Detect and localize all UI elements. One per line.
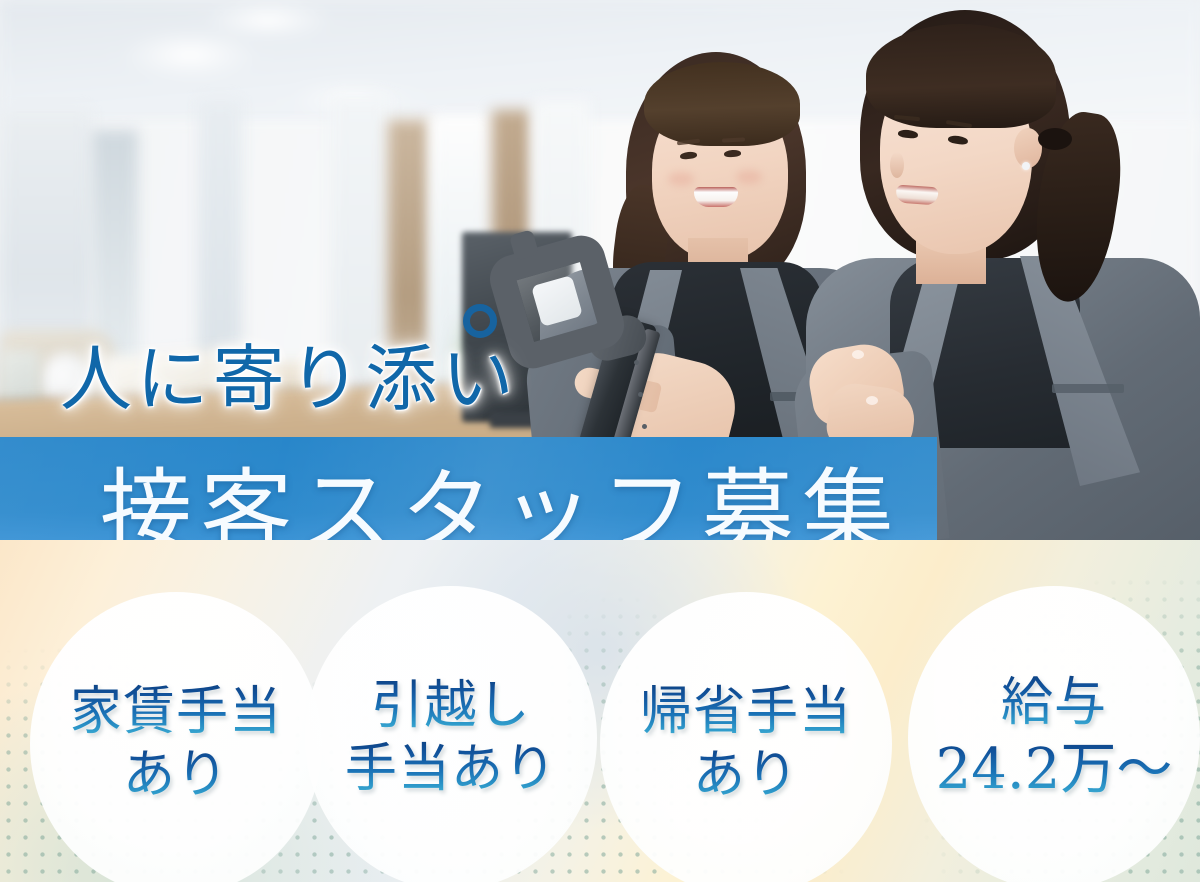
fingernail bbox=[852, 350, 864, 359]
jacket-pocket bbox=[1052, 384, 1124, 393]
benefit-badge-moving-allowance: 引越し 手当あり bbox=[305, 586, 597, 882]
headline-line-1: 人に寄り添い bbox=[60, 332, 580, 428]
benefit-label-line-2: あり bbox=[123, 744, 229, 807]
hair-tie bbox=[1038, 128, 1072, 150]
benefit-label-line-1: 家賃手当 bbox=[70, 681, 282, 744]
earring bbox=[1022, 162, 1030, 170]
benefit-label-line-1: 給与 bbox=[1001, 672, 1107, 735]
fingernail bbox=[866, 396, 878, 405]
tablet-button bbox=[634, 360, 639, 365]
bangs bbox=[644, 62, 800, 146]
benefit-label-line-1: 帰省手当 bbox=[640, 681, 852, 744]
benefit-label-line-1: 引越し bbox=[371, 675, 530, 738]
cheek bbox=[736, 170, 762, 184]
benefit-label-line-2: あり bbox=[693, 744, 799, 807]
benefits-list: 家賃手当 あり 引越し 手当あり 帰省手当 あり 給与 24.2万〜 bbox=[0, 540, 1200, 882]
cheek bbox=[668, 172, 694, 186]
benefit-salary-amount: 24.2万〜 bbox=[936, 736, 1173, 804]
mouth bbox=[895, 185, 938, 206]
benefit-badge-rent-allowance: 家賃手当 あり bbox=[30, 592, 322, 882]
tablet-button bbox=[638, 392, 643, 397]
smiling-mouth bbox=[694, 187, 738, 207]
bangs bbox=[866, 24, 1056, 128]
benefit-badge-salary: 給与 24.2万〜 bbox=[908, 586, 1200, 882]
benefit-badge-homecoming-allowance: 帰省手当 あり bbox=[600, 592, 892, 882]
recruitment-banner: 人に寄り添い あなたらしく。 接客スタッフ募集 家賃手当 あり 引越し 手当あり… bbox=[0, 0, 1200, 882]
nose bbox=[890, 152, 904, 178]
benefit-label-line-2: 手当あり bbox=[345, 738, 557, 801]
tablet-button bbox=[642, 424, 647, 429]
